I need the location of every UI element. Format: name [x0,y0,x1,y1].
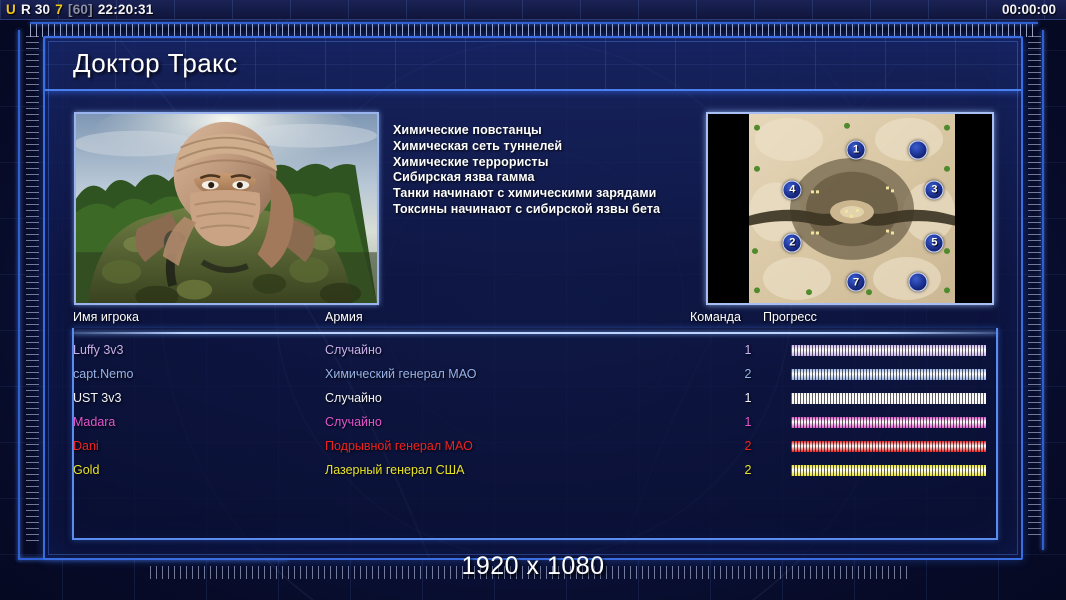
header-team: Команда [690,310,741,324]
player-army: Случайно [325,415,382,429]
minimap-frame[interactable]: 1 4 3 2 5 7 [706,112,994,305]
frame-line-left [18,30,20,560]
table-row[interactable]: Luffy 3v3Случайно1 [73,338,997,362]
player-progress-bar [791,441,986,452]
table-row[interactable]: MadaraСлучайно1 [73,410,997,434]
start-position-marker[interactable]: 3 [925,180,944,199]
status-bar-grid [0,0,1066,19]
start-position-label: 1 [853,144,859,156]
description-line: Сибирская язва гамма [393,170,713,186]
ruler-left [26,36,39,546]
description-line: Химические террористы [393,155,713,171]
performance-readout: UR 30 7 [60] 22:20:31 [6,2,153,17]
session-time: 22:20:31 [98,2,154,17]
player-progress-fill [791,393,986,404]
description-line: Танки начинают с химическими зарядами [393,186,713,202]
player-team: 1 [731,391,765,405]
unit-ref-highlight: U [6,2,16,17]
description-line: Химические повстанцы [393,123,713,139]
general-description: Химические повстанцы Химическая сеть тун… [393,123,713,218]
player-progress-bar [791,465,986,476]
frame-line-top [30,22,1038,24]
table-row[interactable]: UST 3v3Случайно1 [73,386,997,410]
title-bar: Доктор Тракс [45,38,1021,91]
start-position-marker[interactable]: 1 [847,140,866,159]
player-progress-fill [791,369,986,380]
table-row[interactable]: DaniПодрывной генерал МАО2 [73,434,997,458]
start-position-marker[interactable]: 7 [847,273,866,292]
table-row[interactable]: GoldЛазерный генерал США2 [73,458,997,482]
start-position-marker[interactable] [908,140,927,159]
player-progress-bar [791,393,986,404]
main-panel: Доктор Тракс [43,36,1023,560]
start-position-marker[interactable]: 2 [783,233,802,252]
status-bar: UR 30 7 [60] 22:20:31 00:00:00 [0,0,1066,20]
player-team: 1 [731,343,765,357]
general-portrait-frame [74,112,379,305]
table-row[interactable]: capt.NemoХимический генерал МАО2 [73,362,997,386]
player-progress-fill [791,441,986,452]
page-title: Доктор Тракс [73,48,238,79]
description-line: Химическая сеть туннелей [393,139,713,155]
resolution-label: 1920 x 1080 [0,552,1066,581]
description-line: Токсины начинают с сибирской язвы бета [393,202,713,218]
player-progress-fill [791,465,986,476]
player-progress-bar [791,345,986,356]
start-position-label: 7 [853,276,859,288]
player-team: 1 [731,415,765,429]
start-position-marker[interactable]: 5 [925,233,944,252]
start-position-label: 3 [931,184,937,196]
player-army: Случайно [325,391,382,405]
player-army: Подрывной генерал МАО [325,439,473,453]
minimap-image: 1 4 3 2 5 7 [749,114,955,303]
content-row: Химические повстанцы Химическая сеть тун… [45,93,1021,308]
game-lobby-screen: UR 30 7 [60] 22:20:31 00:00:00 Доктор Тр… [0,0,1066,600]
player-team: 2 [731,439,765,453]
unit-ref-rest: R 30 [21,2,50,17]
player-army: Химический генерал МАО [325,367,476,381]
header-army: Армия [325,310,363,324]
start-position-marker[interactable]: 4 [783,180,802,199]
fps-max-value: [60] [68,2,93,17]
player-name: Dani [73,439,99,453]
player-progress-bar [791,369,986,380]
player-team: 2 [731,463,765,477]
player-table-body: Luffy 3v3Случайно1capt.NemoХимический ге… [45,338,1021,523]
start-position-label: 5 [931,237,937,249]
player-name: capt.Nemo [73,367,133,381]
frame-line-right [1042,30,1044,550]
player-army: Лазерный генерал США [325,463,464,477]
player-name: Luffy 3v3 [73,343,124,357]
general-portrait-image [76,114,377,304]
header-player-name: Имя игрока [73,310,139,324]
player-table-header: Имя игрока Армия Команда Прогресс [45,310,1021,332]
fps-value: 7 [55,2,63,17]
player-team: 2 [731,367,765,381]
start-position-marker[interactable] [908,273,927,292]
player-name: Madara [73,415,115,429]
ruler-right [1028,36,1041,536]
start-position-label: 2 [789,237,795,249]
start-position-label: 4 [789,184,795,196]
table-header-divider [73,332,997,334]
player-name: Gold [73,463,99,477]
player-name: UST 3v3 [73,391,121,405]
game-clock: 00:00:00 [1002,2,1060,17]
player-progress-bar [791,417,986,428]
header-progress: Прогресс [763,310,817,324]
player-army: Случайно [325,343,382,357]
player-progress-fill [791,417,986,428]
player-progress-fill [791,345,986,356]
